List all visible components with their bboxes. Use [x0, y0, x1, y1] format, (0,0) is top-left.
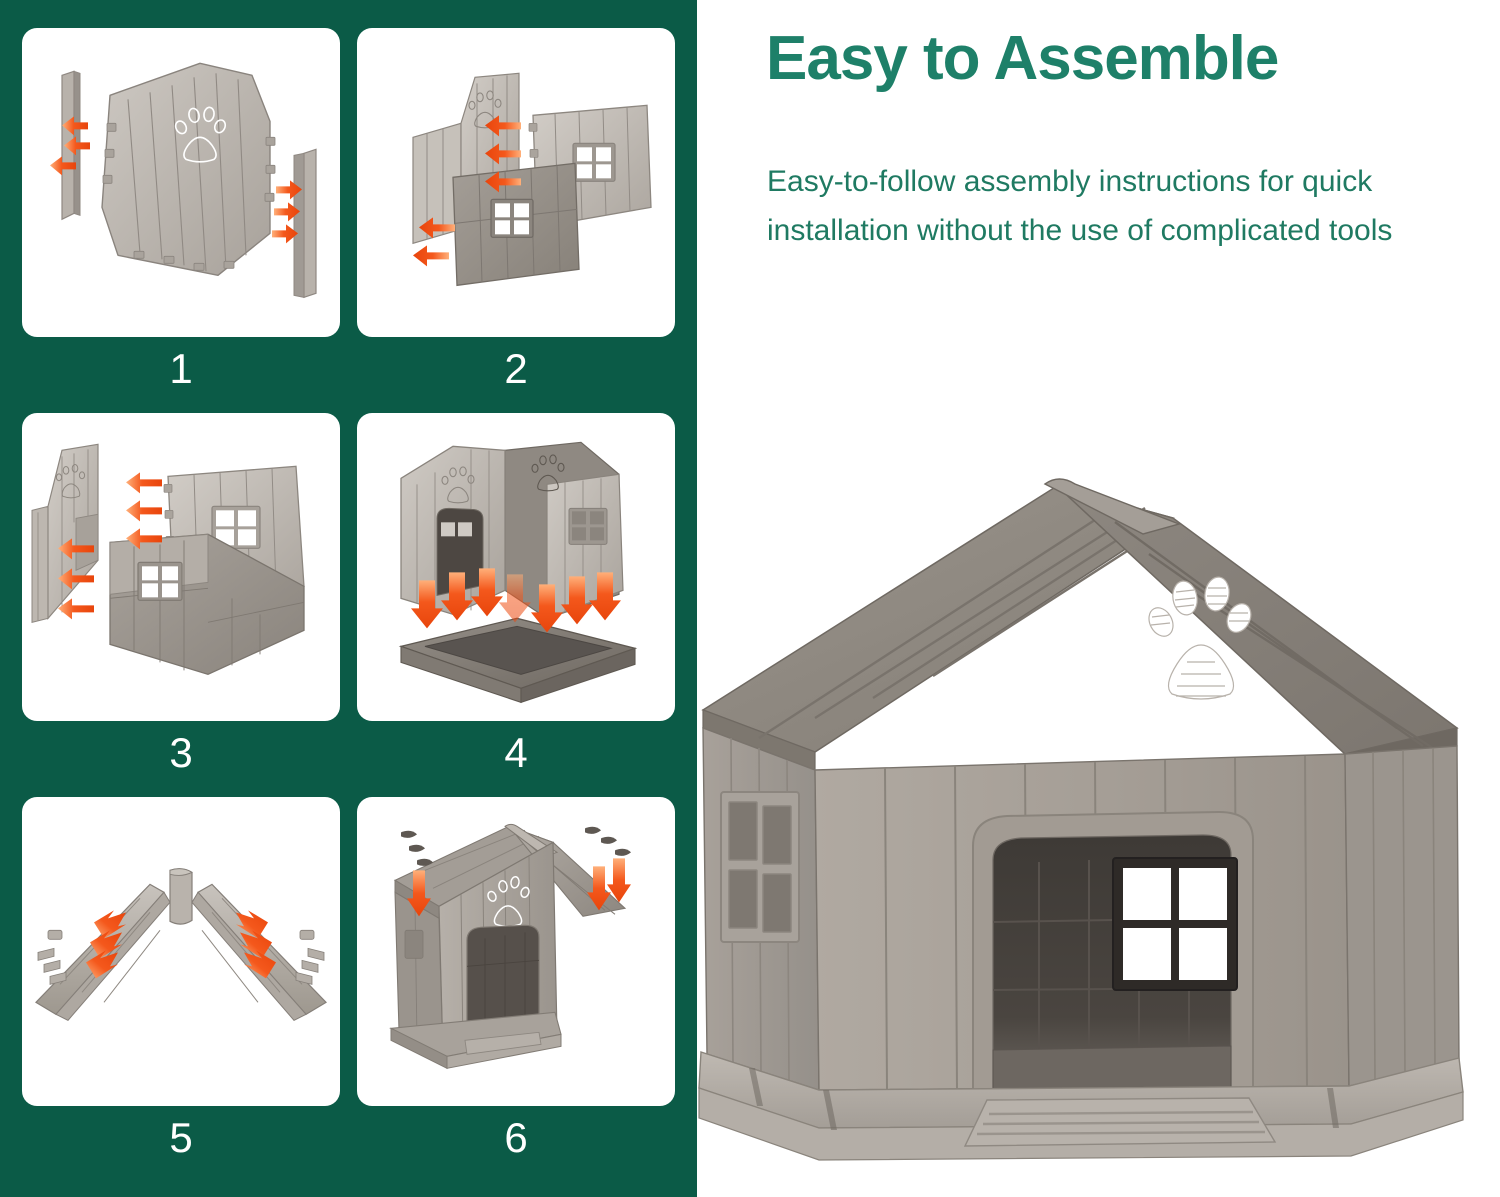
step-2-illustration-card	[357, 28, 675, 337]
step-2-number: 2	[357, 337, 675, 401]
side-window	[721, 792, 799, 942]
floor-base-tray	[401, 618, 635, 702]
step-5-illustration-card	[22, 797, 340, 1106]
left-side-wall	[703, 728, 819, 1090]
infographic-root: 1	[0, 0, 1500, 1197]
step-6-illustration-card	[357, 797, 675, 1106]
step-5-illustration	[22, 797, 340, 1106]
front-gable-wall-with-door	[32, 444, 98, 622]
assembly-step-6: 6	[357, 797, 675, 1170]
step-2-illustration	[357, 28, 675, 337]
step-3-number: 3	[22, 721, 340, 785]
product-hero-image	[697, 470, 1500, 1197]
right-trim-strip	[294, 149, 316, 297]
entry-threshold-ramp	[965, 1098, 1275, 1146]
window-frame	[573, 143, 615, 181]
assembly-step-3: 3	[22, 413, 340, 786]
step-6-illustration	[357, 797, 675, 1106]
step-1-illustration-card	[22, 28, 340, 337]
window-frame	[569, 508, 607, 544]
step-5-number: 5	[22, 1106, 340, 1170]
window-frame	[491, 199, 533, 237]
assembly-steps-panel: 1	[0, 0, 697, 1197]
step-1-arrows-left	[50, 116, 90, 175]
window-frame	[138, 562, 182, 600]
step-6-number: 6	[357, 1106, 675, 1170]
door-opening	[973, 812, 1253, 1100]
step-4-illustration-card	[357, 413, 675, 722]
page-subtitle: Easy-to-follow assembly instructions for…	[767, 158, 1467, 255]
step-4-number: 4	[357, 721, 675, 785]
page-title: Easy to Assemble	[766, 26, 1486, 91]
dog-house-illustration	[697, 470, 1500, 1197]
step-1-illustration	[22, 28, 340, 337]
right-content-area: Easy to Assemble Easy-to-follow assembly…	[697, 0, 1500, 1197]
right-side-wall	[1345, 746, 1459, 1086]
assembly-step-4: 4	[357, 413, 675, 786]
assembly-step-2: 2	[357, 28, 675, 401]
assembly-steps-grid: 1	[22, 28, 675, 1170]
step-3-illustration	[22, 413, 340, 722]
step-3-illustration-card	[22, 413, 340, 722]
assembly-step-5: 5	[22, 797, 340, 1170]
step-1-number: 1	[22, 337, 340, 401]
step-4-illustration	[357, 413, 675, 722]
ridge-cap	[170, 869, 192, 924]
front-gable-wall-panel	[102, 63, 275, 275]
assembly-step-1: 1	[22, 28, 340, 401]
rear-window	[1113, 858, 1237, 990]
